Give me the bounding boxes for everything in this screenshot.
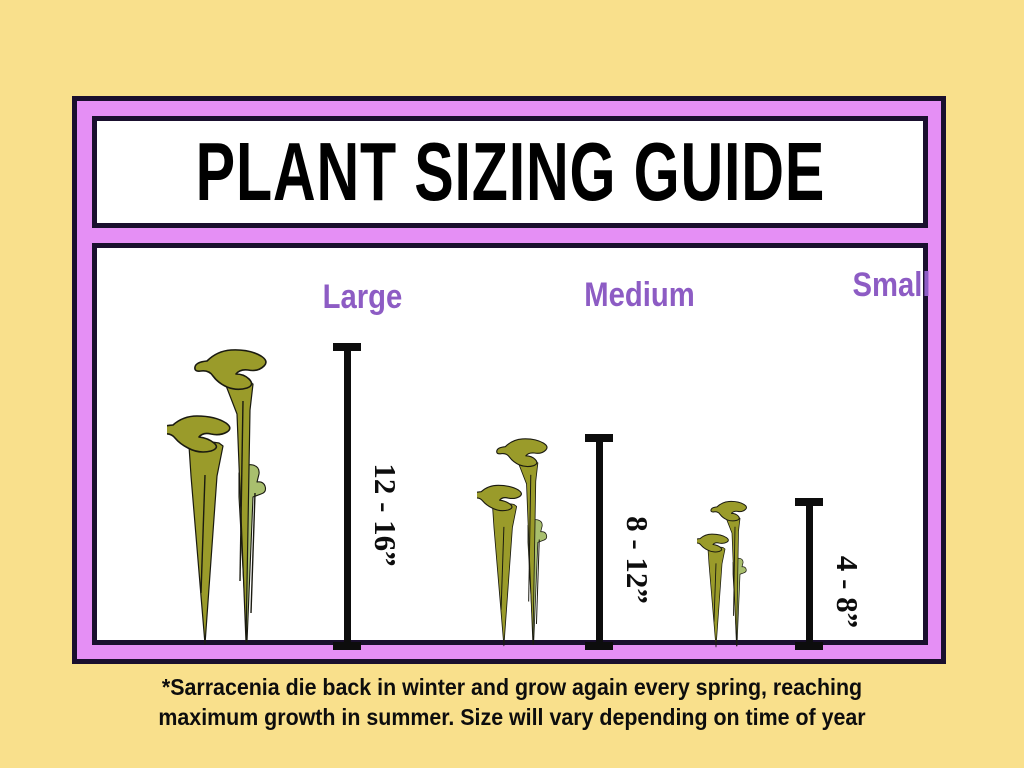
measure-label-small: 4 - 8” (829, 556, 865, 628)
measure-cap-bottom (333, 642, 361, 650)
measure-stem (344, 343, 351, 650)
plant-illustration-small (697, 498, 762, 650)
size-label-large: Large (300, 278, 425, 317)
footnote-line-1: *Sarracenia die back in winter and grow … (110, 672, 914, 702)
title-panel: PLANT SIZING GUIDE (92, 116, 928, 228)
plant-illustration-medium (477, 434, 569, 650)
footnote: *Sarracenia die back in winter and grow … (80, 672, 944, 733)
poster-canvas: PLANT SIZING GUIDE Large Medium Small (0, 0, 1024, 768)
measure-cap-top (795, 498, 823, 506)
measure-stem (596, 434, 603, 650)
page-title: PLANT SIZING GUIDE (195, 131, 824, 214)
plant-illustration-large (167, 343, 297, 650)
measure-bar-small: 4 - 8” (795, 498, 823, 650)
measure-cap-top (585, 434, 613, 442)
size-label-medium: Medium (573, 276, 706, 315)
sizing-chart-panel: Large Medium Small (92, 243, 928, 645)
measure-cap-top (333, 343, 361, 351)
measure-stem (806, 498, 813, 650)
measure-bar-medium: 8 - 12” (585, 434, 613, 650)
measure-label-large: 12 - 16” (367, 463, 403, 566)
measure-cap-bottom (795, 642, 823, 650)
measure-label-medium: 8 - 12” (619, 516, 655, 604)
measure-bar-large: 12 - 16” (333, 343, 361, 650)
size-label-small: Small (829, 266, 954, 305)
footnote-line-2: maximum growth in summer. Size will vary… (110, 702, 914, 732)
measure-cap-bottom (585, 642, 613, 650)
